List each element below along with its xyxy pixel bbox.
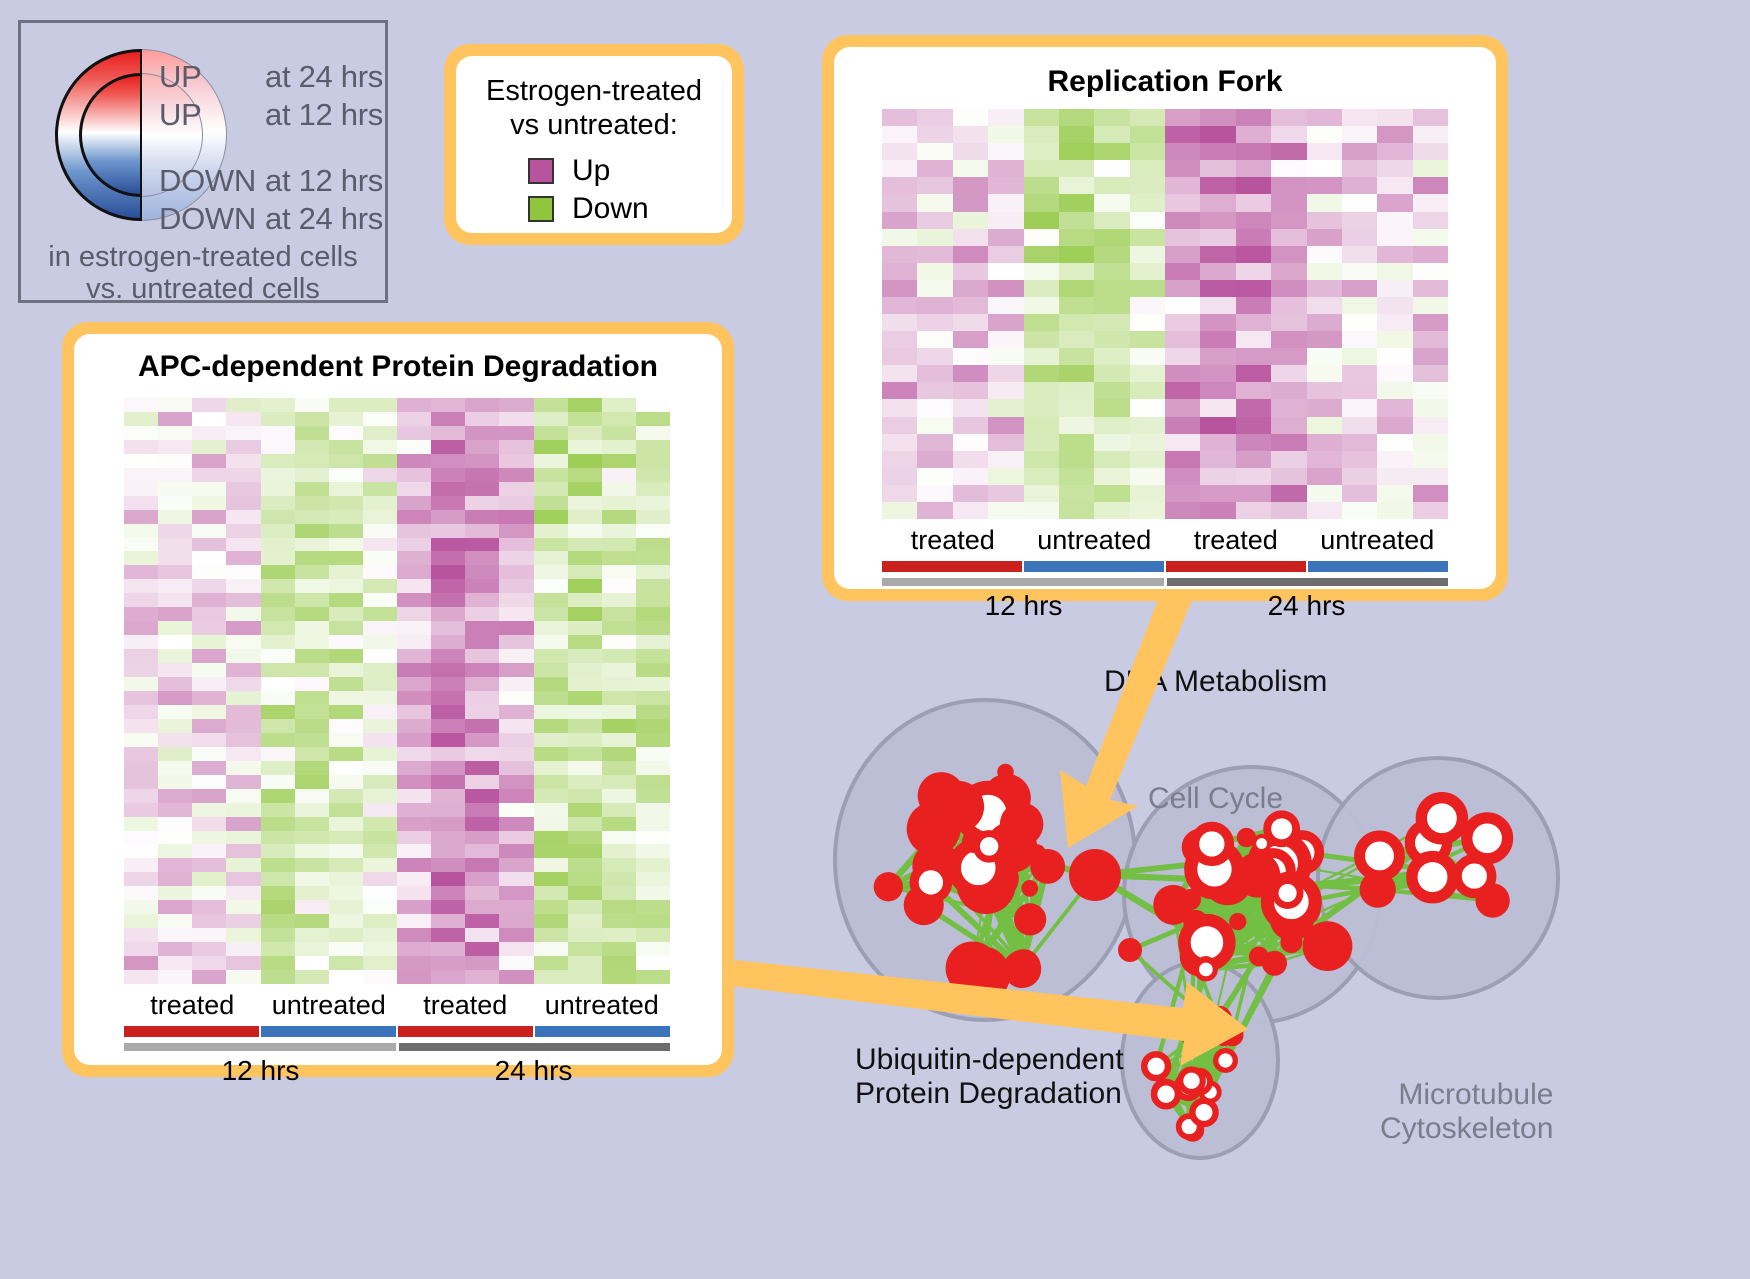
heatmap-cell <box>602 524 636 538</box>
network-node <box>1275 881 1300 906</box>
heatmap-cell <box>226 663 260 677</box>
network-node <box>976 834 1001 859</box>
heatmap-cell <box>499 510 533 524</box>
heatmap-cell <box>882 348 917 365</box>
heatmap-cell <box>124 914 158 928</box>
heatmap-cell <box>1307 297 1342 314</box>
heatmap-cell <box>1377 297 1412 314</box>
heatmap-cell <box>226 900 260 914</box>
heatmap-cell <box>158 928 192 942</box>
heatmap-cell <box>465 635 499 649</box>
heatmap-cell <box>568 761 602 775</box>
heatmap-cell <box>534 872 568 886</box>
heatmap-cell <box>124 524 158 538</box>
heatmap-cell <box>499 789 533 803</box>
heatmap-cell <box>882 143 917 160</box>
heatmap-cell <box>636 565 670 579</box>
heatmap-cell <box>534 579 568 593</box>
heatmap-cell <box>534 928 568 942</box>
heatmap-cell <box>1271 365 1306 382</box>
heatmap-cell <box>568 440 602 454</box>
heatmap-cell <box>329 719 363 733</box>
heatmap-cell <box>124 844 158 858</box>
heatmap-cell <box>953 212 988 229</box>
apc-group-labels: treateduntreatedtreateduntreated <box>124 990 670 1024</box>
sample-group-bar <box>535 1026 670 1037</box>
heatmap-cell <box>158 551 192 565</box>
key-divider-line <box>140 49 142 221</box>
key-row-up-12: UPat 12 hrs <box>159 97 365 133</box>
heatmap-cell <box>1165 297 1200 314</box>
heatmap-cell <box>1377 417 1412 434</box>
heatmap-cell <box>1342 314 1377 331</box>
heatmap-cell <box>1236 434 1271 451</box>
heatmap-cell <box>953 280 988 297</box>
heatmap-cell <box>1200 331 1235 348</box>
heatmap-cell <box>465 579 499 593</box>
heatmap-cell <box>431 970 465 984</box>
heatmap-cell <box>568 510 602 524</box>
heatmap-cell <box>465 677 499 691</box>
heatmap-cell <box>158 677 192 691</box>
heatmap-cell <box>192 900 226 914</box>
heatmap-cell <box>329 482 363 496</box>
heatmap-cell <box>295 942 329 956</box>
heatmap-cell <box>431 510 465 524</box>
heatmap-cell <box>1094 451 1129 468</box>
heatmap-cell <box>1200 246 1235 263</box>
heatmap-cell <box>465 649 499 663</box>
heatmap-cell <box>226 970 260 984</box>
heatmap-cell <box>192 677 226 691</box>
heatmap-cell <box>1236 126 1271 143</box>
heatmap-cell <box>882 126 917 143</box>
heatmap-cell <box>397 761 431 775</box>
heatmap-cell <box>158 956 192 970</box>
heatmap-cell <box>1165 485 1200 502</box>
heatmap-cell <box>1200 297 1235 314</box>
heatmap-cell <box>124 942 158 956</box>
heatmap-cell <box>1413 160 1448 177</box>
heatmap-cell <box>431 538 465 552</box>
heatmap-cell <box>568 872 602 886</box>
heatmap-cell <box>431 635 465 649</box>
key-row-down-12: DOWNat 12 hrs <box>159 163 365 199</box>
heatmap-cell <box>431 468 465 482</box>
network-node <box>1069 849 1121 901</box>
heatmap-cell <box>1165 143 1200 160</box>
heatmap-cell <box>499 747 533 761</box>
heatmap-cell <box>465 454 499 468</box>
heatmap-cell <box>1200 263 1235 280</box>
heatmap-cell <box>1307 212 1342 229</box>
heatmap-cell <box>568 496 602 510</box>
heatmap-cell <box>1271 348 1306 365</box>
heatmap-cell <box>636 607 670 621</box>
heatmap-cell <box>295 482 329 496</box>
heatmap-cell <box>988 434 1023 451</box>
heatmap-cell <box>1236 143 1271 160</box>
heatmap-cell <box>329 524 363 538</box>
heatmap-cell <box>499 649 533 663</box>
heatmap-cell <box>988 177 1023 194</box>
heatmap-cell <box>636 761 670 775</box>
heatmap-cell <box>636 719 670 733</box>
heatmap-cell <box>1377 468 1412 485</box>
heatmap-cell <box>431 412 465 426</box>
heatmap-cell <box>568 621 602 635</box>
heatmap-cell <box>363 858 397 872</box>
heatmap-cell <box>226 579 260 593</box>
heatmap-cell <box>261 496 295 510</box>
sample-group-label: untreated <box>1024 525 1166 559</box>
heatmap-cell <box>636 844 670 858</box>
heatmap-cell <box>499 635 533 649</box>
heatmap-cell <box>882 229 917 246</box>
heatmap-cell <box>192 803 226 817</box>
heatmap-cell <box>534 775 568 789</box>
heatmap-cell <box>534 970 568 984</box>
heatmap-cell <box>431 426 465 440</box>
heatmap-cell <box>158 761 192 775</box>
heatmap-cell <box>329 468 363 482</box>
heatmap-cell <box>1236 502 1271 519</box>
heatmap-cell <box>1130 365 1165 382</box>
heatmap-cell <box>1130 246 1165 263</box>
heatmap-cell <box>882 417 917 434</box>
heatmap-cell <box>261 538 295 552</box>
network-node <box>933 781 984 832</box>
heatmap-cell <box>499 886 533 900</box>
heatmap-cell <box>499 803 533 817</box>
heatmap-cell <box>329 970 363 984</box>
heatmap-cell <box>329 663 363 677</box>
heatmap-cell <box>1094 348 1129 365</box>
heatmap-cell <box>465 607 499 621</box>
network-node <box>1421 798 1462 839</box>
heatmap-cell <box>1342 382 1377 399</box>
heatmap-cell <box>953 434 988 451</box>
heatmap-cell <box>363 844 397 858</box>
heatmap-cell <box>953 126 988 143</box>
heatmap-cell <box>1271 382 1306 399</box>
heatmap-cell <box>534 607 568 621</box>
heatmap-cell <box>261 454 295 468</box>
heatmap-cell <box>636 412 670 426</box>
heatmap-cell <box>534 789 568 803</box>
heatmap-cell <box>1024 126 1059 143</box>
heatmap-cell <box>988 314 1023 331</box>
heatmap-cell <box>363 426 397 440</box>
heatmap-cell <box>1342 297 1377 314</box>
heatmap-cell <box>397 468 431 482</box>
heatmap-cell <box>1130 194 1165 211</box>
heatmap-cell <box>192 844 226 858</box>
heatmap-cell <box>882 502 917 519</box>
heatmap-cell <box>363 649 397 663</box>
heatmap-cell <box>1200 502 1235 519</box>
heatmap-cell <box>499 775 533 789</box>
heatmap-cell <box>882 212 917 229</box>
heatmap-cell <box>192 482 226 496</box>
heatmap-cell <box>953 451 988 468</box>
heatmap-cell <box>1130 109 1165 126</box>
heatmap-cell <box>1024 314 1059 331</box>
heatmap-cell <box>1307 263 1342 280</box>
heatmap-cell <box>1059 417 1094 434</box>
heatmap-cell <box>1236 468 1271 485</box>
heatmap-cell <box>158 412 192 426</box>
network-node <box>1194 827 1229 862</box>
heatmap-cell <box>1413 468 1448 485</box>
heatmap-cell <box>568 565 602 579</box>
heatmap-cell <box>568 426 602 440</box>
heatmap-cell <box>568 705 602 719</box>
heatmap-cell <box>1342 434 1377 451</box>
heatmap-cell <box>1271 143 1306 160</box>
heatmap-cell <box>1059 109 1094 126</box>
heatmap-cell <box>636 747 670 761</box>
heatmap-cell <box>636 705 670 719</box>
heatmap-cell <box>295 817 329 831</box>
heatmap-cell <box>602 510 636 524</box>
heatmap-cell <box>329 844 363 858</box>
heatmap-cell <box>988 143 1023 160</box>
heatmap-cell <box>295 635 329 649</box>
sample-group-bar <box>124 1026 259 1037</box>
heatmap-cell <box>499 426 533 440</box>
heatmap-cell <box>158 593 192 607</box>
heatmap-cell <box>226 551 260 565</box>
time-group-bar <box>882 578 1164 586</box>
heatmap-cell <box>1271 126 1306 143</box>
sample-group-label: treated <box>124 990 261 1024</box>
heatmap-cell <box>124 551 158 565</box>
heatmap-cell <box>636 468 670 482</box>
heatmap-cell <box>226 454 260 468</box>
heatmap-cell <box>636 593 670 607</box>
heatmap-cell <box>1377 485 1412 502</box>
heatmap-cell <box>465 440 499 454</box>
heatmap-cell <box>1271 451 1306 468</box>
key-time-label: at 24 hrs <box>265 201 365 237</box>
heatmap-cell <box>1271 212 1306 229</box>
heatmap-cell <box>261 900 295 914</box>
heatmap-cell <box>1094 399 1129 416</box>
heatmap-cell <box>261 621 295 635</box>
heatmap-cell <box>124 789 158 803</box>
heatmap-cell <box>363 454 397 468</box>
heatmap-cell <box>226 412 260 426</box>
heatmap-cell <box>431 593 465 607</box>
network-node <box>1249 947 1269 967</box>
heatmap-cell <box>329 789 363 803</box>
heatmap-cell <box>226 914 260 928</box>
legend-swatch-down <box>528 196 554 222</box>
legend-item-up: Up <box>528 154 610 188</box>
heatmap-cell <box>636 942 670 956</box>
heatmap-cell <box>1307 348 1342 365</box>
heatmap-cell <box>1271 194 1306 211</box>
heatmap-cell <box>329 831 363 845</box>
heatmap-cell <box>192 510 226 524</box>
heatmap-cell <box>295 970 329 984</box>
sample-group-bar <box>1166 561 1306 572</box>
heatmap-cell <box>192 551 226 565</box>
heatmap-cell <box>465 593 499 607</box>
heatmap-cell <box>192 468 226 482</box>
network-node <box>874 872 903 901</box>
heatmap-cell <box>329 914 363 928</box>
heatmap-cell <box>192 565 226 579</box>
heatmap-cell <box>499 970 533 984</box>
heatmap-cell <box>1024 246 1059 263</box>
key-time-label: at 24 hrs <box>265 59 365 95</box>
heatmap-cell <box>534 677 568 691</box>
legend-title: Estrogen-treated vs untreated: <box>456 74 732 142</box>
heatmap-cell <box>295 524 329 538</box>
heatmap-cell <box>329 900 363 914</box>
heatmap-cell <box>465 886 499 900</box>
heatmap-cell <box>158 398 192 412</box>
heatmap-cell <box>1377 109 1412 126</box>
heatmap-cell <box>329 677 363 691</box>
heatmap-cell <box>329 635 363 649</box>
heatmap-cell <box>499 956 533 970</box>
heatmap-cell <box>1413 263 1448 280</box>
heatmap-cell <box>465 719 499 733</box>
heatmap-cell <box>953 194 988 211</box>
heatmap-cell <box>1059 194 1094 211</box>
heatmap-cell <box>363 468 397 482</box>
heatmap-cell <box>602 663 636 677</box>
heatmap-cell <box>124 412 158 426</box>
heatmap-cell <box>882 194 917 211</box>
heatmap-cell <box>534 831 568 845</box>
heatmap-cell <box>295 747 329 761</box>
replication-fork-title: Replication Fork <box>834 65 1496 99</box>
heatmap-cell <box>882 160 917 177</box>
heatmap-cell <box>124 705 158 719</box>
heatmap-cell <box>397 551 431 565</box>
heatmap-cell <box>1094 263 1129 280</box>
heatmap-cell <box>499 872 533 886</box>
time-group-label: 24 hrs <box>397 1055 670 1089</box>
heatmap-cell <box>1094 280 1129 297</box>
heatmap-cell <box>1342 502 1377 519</box>
heatmap-cell <box>226 607 260 621</box>
heatmap-cell <box>397 872 431 886</box>
heatmap-cell <box>953 365 988 382</box>
heatmap-cell <box>1413 297 1448 314</box>
heatmap-cell <box>1024 485 1059 502</box>
heatmap-cell <box>397 426 431 440</box>
heatmap-cell <box>534 761 568 775</box>
heatmap-cell <box>568 775 602 789</box>
heatmap-cell <box>534 510 568 524</box>
heatmap-cell <box>1130 126 1165 143</box>
sample-group-bar <box>398 1026 533 1037</box>
heatmap-cell <box>192 524 226 538</box>
heatmap-cell <box>636 970 670 984</box>
heatmap-cell <box>363 747 397 761</box>
heatmap-cell <box>124 635 158 649</box>
heatmap-cell <box>1342 177 1377 194</box>
heatmap-cell <box>636 677 670 691</box>
heatmap-cell <box>1200 143 1235 160</box>
heatmap-cell <box>158 775 192 789</box>
heatmap-cell <box>534 747 568 761</box>
heatmap-cell <box>1059 382 1094 399</box>
heatmap-cell <box>1377 126 1412 143</box>
heatmap-cell <box>295 579 329 593</box>
heatmap-cell <box>158 649 192 663</box>
heatmap-cell <box>1059 502 1094 519</box>
heatmap-cell <box>953 177 988 194</box>
heatmap-cell <box>363 775 397 789</box>
heatmap-cell <box>1307 399 1342 416</box>
heatmap-cell <box>158 803 192 817</box>
heatmap-cell <box>1165 434 1200 451</box>
heatmap-cell <box>917 451 952 468</box>
heatmap-cell <box>499 691 533 705</box>
heatmap-cell <box>499 928 533 942</box>
heatmap-cell <box>1200 177 1235 194</box>
key-state-label: DOWN <box>159 163 265 199</box>
heatmap-cell <box>882 280 917 297</box>
heatmap-cell <box>261 858 295 872</box>
heatmap-cell <box>602 454 636 468</box>
heatmap-cell <box>1165 365 1200 382</box>
heatmap-cell <box>261 942 295 956</box>
heatmap-cell <box>158 705 192 719</box>
heatmap-cell <box>602 970 636 984</box>
heatmap-cell <box>1094 485 1129 502</box>
heatmap-cell <box>953 297 988 314</box>
heatmap-cell <box>1271 331 1306 348</box>
heatmap-cell <box>1413 502 1448 519</box>
heatmap-cell <box>636 803 670 817</box>
heatmap-cell <box>465 761 499 775</box>
heatmap-cell <box>329 886 363 900</box>
heatmap-cell <box>499 440 533 454</box>
heatmap-cell <box>1165 280 1200 297</box>
network-node <box>1267 814 1296 843</box>
heatmap-cell <box>124 454 158 468</box>
heatmap-cell <box>636 538 670 552</box>
heatmap-cell <box>465 482 499 496</box>
heatmap-cell <box>363 817 397 831</box>
heatmap-cell <box>226 928 260 942</box>
heatmap-cell <box>431 914 465 928</box>
heatmap-cell <box>534 496 568 510</box>
heatmap-cell <box>988 280 1023 297</box>
heatmap-cell <box>1094 382 1129 399</box>
heatmap-cell <box>261 649 295 663</box>
heatmap-cell <box>1059 485 1094 502</box>
heatmap-cell <box>1165 382 1200 399</box>
heatmap-cell <box>636 426 670 440</box>
heatmap-cell <box>988 331 1023 348</box>
heatmap-cell <box>226 565 260 579</box>
heatmap-cell <box>397 538 431 552</box>
heatmap-cell <box>226 719 260 733</box>
heatmap-cell <box>636 900 670 914</box>
heatmap-cell <box>158 482 192 496</box>
heatmap-cell <box>192 956 226 970</box>
heatmap-cell <box>534 649 568 663</box>
heatmap-cell <box>192 593 226 607</box>
